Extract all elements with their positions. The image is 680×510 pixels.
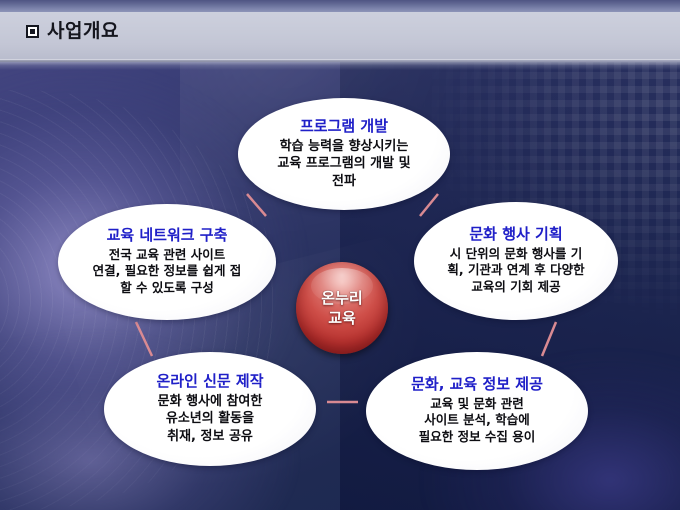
center-node-onnuri-education[interactable]: 온누리 교육 bbox=[296, 262, 388, 354]
node-title: 온라인 신문 제작 bbox=[156, 373, 263, 391]
node-body-line: 교육의 기회 제공 bbox=[447, 279, 584, 296]
node-body-line: 문화 행사에 참여한 bbox=[158, 393, 263, 410]
node-body-line: 전파 bbox=[277, 173, 410, 190]
node-body-line: 유소년의 활동을 bbox=[158, 410, 263, 427]
node-culture-education-info[interactable]: 문화, 교육 정보 제공 교육 및 문화 관련 사이트 분석, 학습에 필요한 … bbox=[366, 352, 588, 470]
node-body-line: 교육 및 문화 관련 bbox=[419, 396, 536, 413]
node-body-line: 취재, 정보 공유 bbox=[158, 428, 263, 445]
filled-square-icon bbox=[26, 25, 39, 38]
node-body-line: 획, 기관과 연계 후 다양한 bbox=[447, 262, 584, 279]
node-body-line: 학습 능력을 향상시키는 bbox=[277, 138, 410, 155]
node-body: 학습 능력을 향상시키는 교육 프로그램의 개발 및 전파 bbox=[277, 138, 410, 190]
node-education-network[interactable]: 교육 네트워크 구축 전국 교육 관련 사이트 연결, 필요한 정보를 쉽게 접… bbox=[58, 204, 276, 320]
node-title: 문화, 교육 정보 제공 bbox=[411, 376, 543, 394]
node-program-development[interactable]: 프로그램 개발 학습 능력을 향상시키는 교육 프로그램의 개발 및 전파 bbox=[238, 98, 450, 210]
node-culture-event-planning[interactable]: 문화 행사 기획 시 단위의 문화 행사를 기 획, 기관과 연계 후 다양한 … bbox=[414, 202, 618, 320]
node-body-line: 교육 프로그램의 개발 및 bbox=[277, 155, 410, 172]
slide-canvas: 사업개요 프로그램 개발 학습 능력을 향상시키는 교육 프로그램의 개발 및 … bbox=[0, 0, 680, 510]
node-title: 프로그램 개발 bbox=[300, 118, 388, 136]
node-body-line: 시 단위의 문화 행사를 기 bbox=[447, 246, 584, 263]
center-node-line-1: 온누리 bbox=[321, 290, 362, 307]
node-body: 시 단위의 문화 행사를 기 획, 기관과 연계 후 다양한 교육의 기회 제공 bbox=[447, 246, 584, 296]
node-title: 교육 네트워크 구축 bbox=[107, 227, 228, 245]
node-online-newspaper[interactable]: 온라인 신문 제작 문화 행사에 참여한 유소년의 활동을 취재, 정보 공유 bbox=[104, 352, 316, 466]
header-top-strip bbox=[0, 0, 680, 12]
node-title: 문화 행사 기획 bbox=[469, 226, 562, 244]
node-body-line: 사이트 분석, 학습에 bbox=[419, 412, 536, 429]
header-underglow bbox=[0, 60, 680, 70]
center-node-line-2: 교육 bbox=[328, 310, 356, 327]
node-body-line: 전국 교육 관련 사이트 bbox=[93, 247, 242, 264]
node-body-line: 연결, 필요한 정보를 쉽게 접 bbox=[93, 263, 242, 280]
node-body: 문화 행사에 참여한 유소년의 활동을 취재, 정보 공유 bbox=[158, 393, 263, 445]
node-body: 전국 교육 관련 사이트 연결, 필요한 정보를 쉽게 접 할 수 있도록 구성 bbox=[93, 247, 242, 297]
node-body-line: 필요한 정보 수집 용이 bbox=[419, 429, 536, 446]
page-title: 사업개요 bbox=[47, 22, 119, 41]
page-title-row: 사업개요 bbox=[26, 22, 119, 41]
node-body-line: 할 수 있도록 구성 bbox=[93, 280, 242, 297]
node-body: 교육 및 문화 관련 사이트 분석, 학습에 필요한 정보 수집 용이 bbox=[419, 396, 536, 446]
